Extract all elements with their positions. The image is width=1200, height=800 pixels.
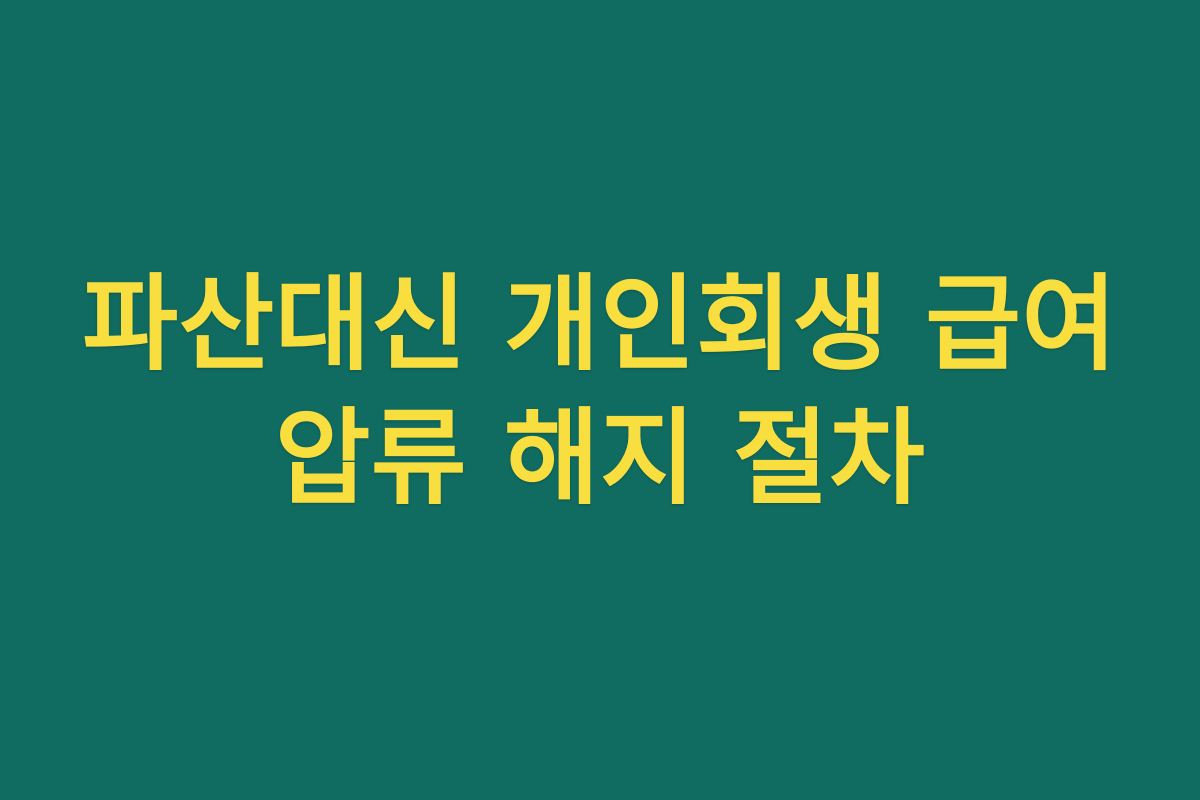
banner-canvas: 파산대신 개인회생 급여 압류 해지 절차 [0,0,1200,800]
title-line-1: 파산대신 개인회생 급여 [0,257,1200,391]
title-line-2: 압류 해지 절차 [0,391,1200,525]
title-block: 파산대신 개인회생 급여 압류 해지 절차 [0,257,1200,543]
